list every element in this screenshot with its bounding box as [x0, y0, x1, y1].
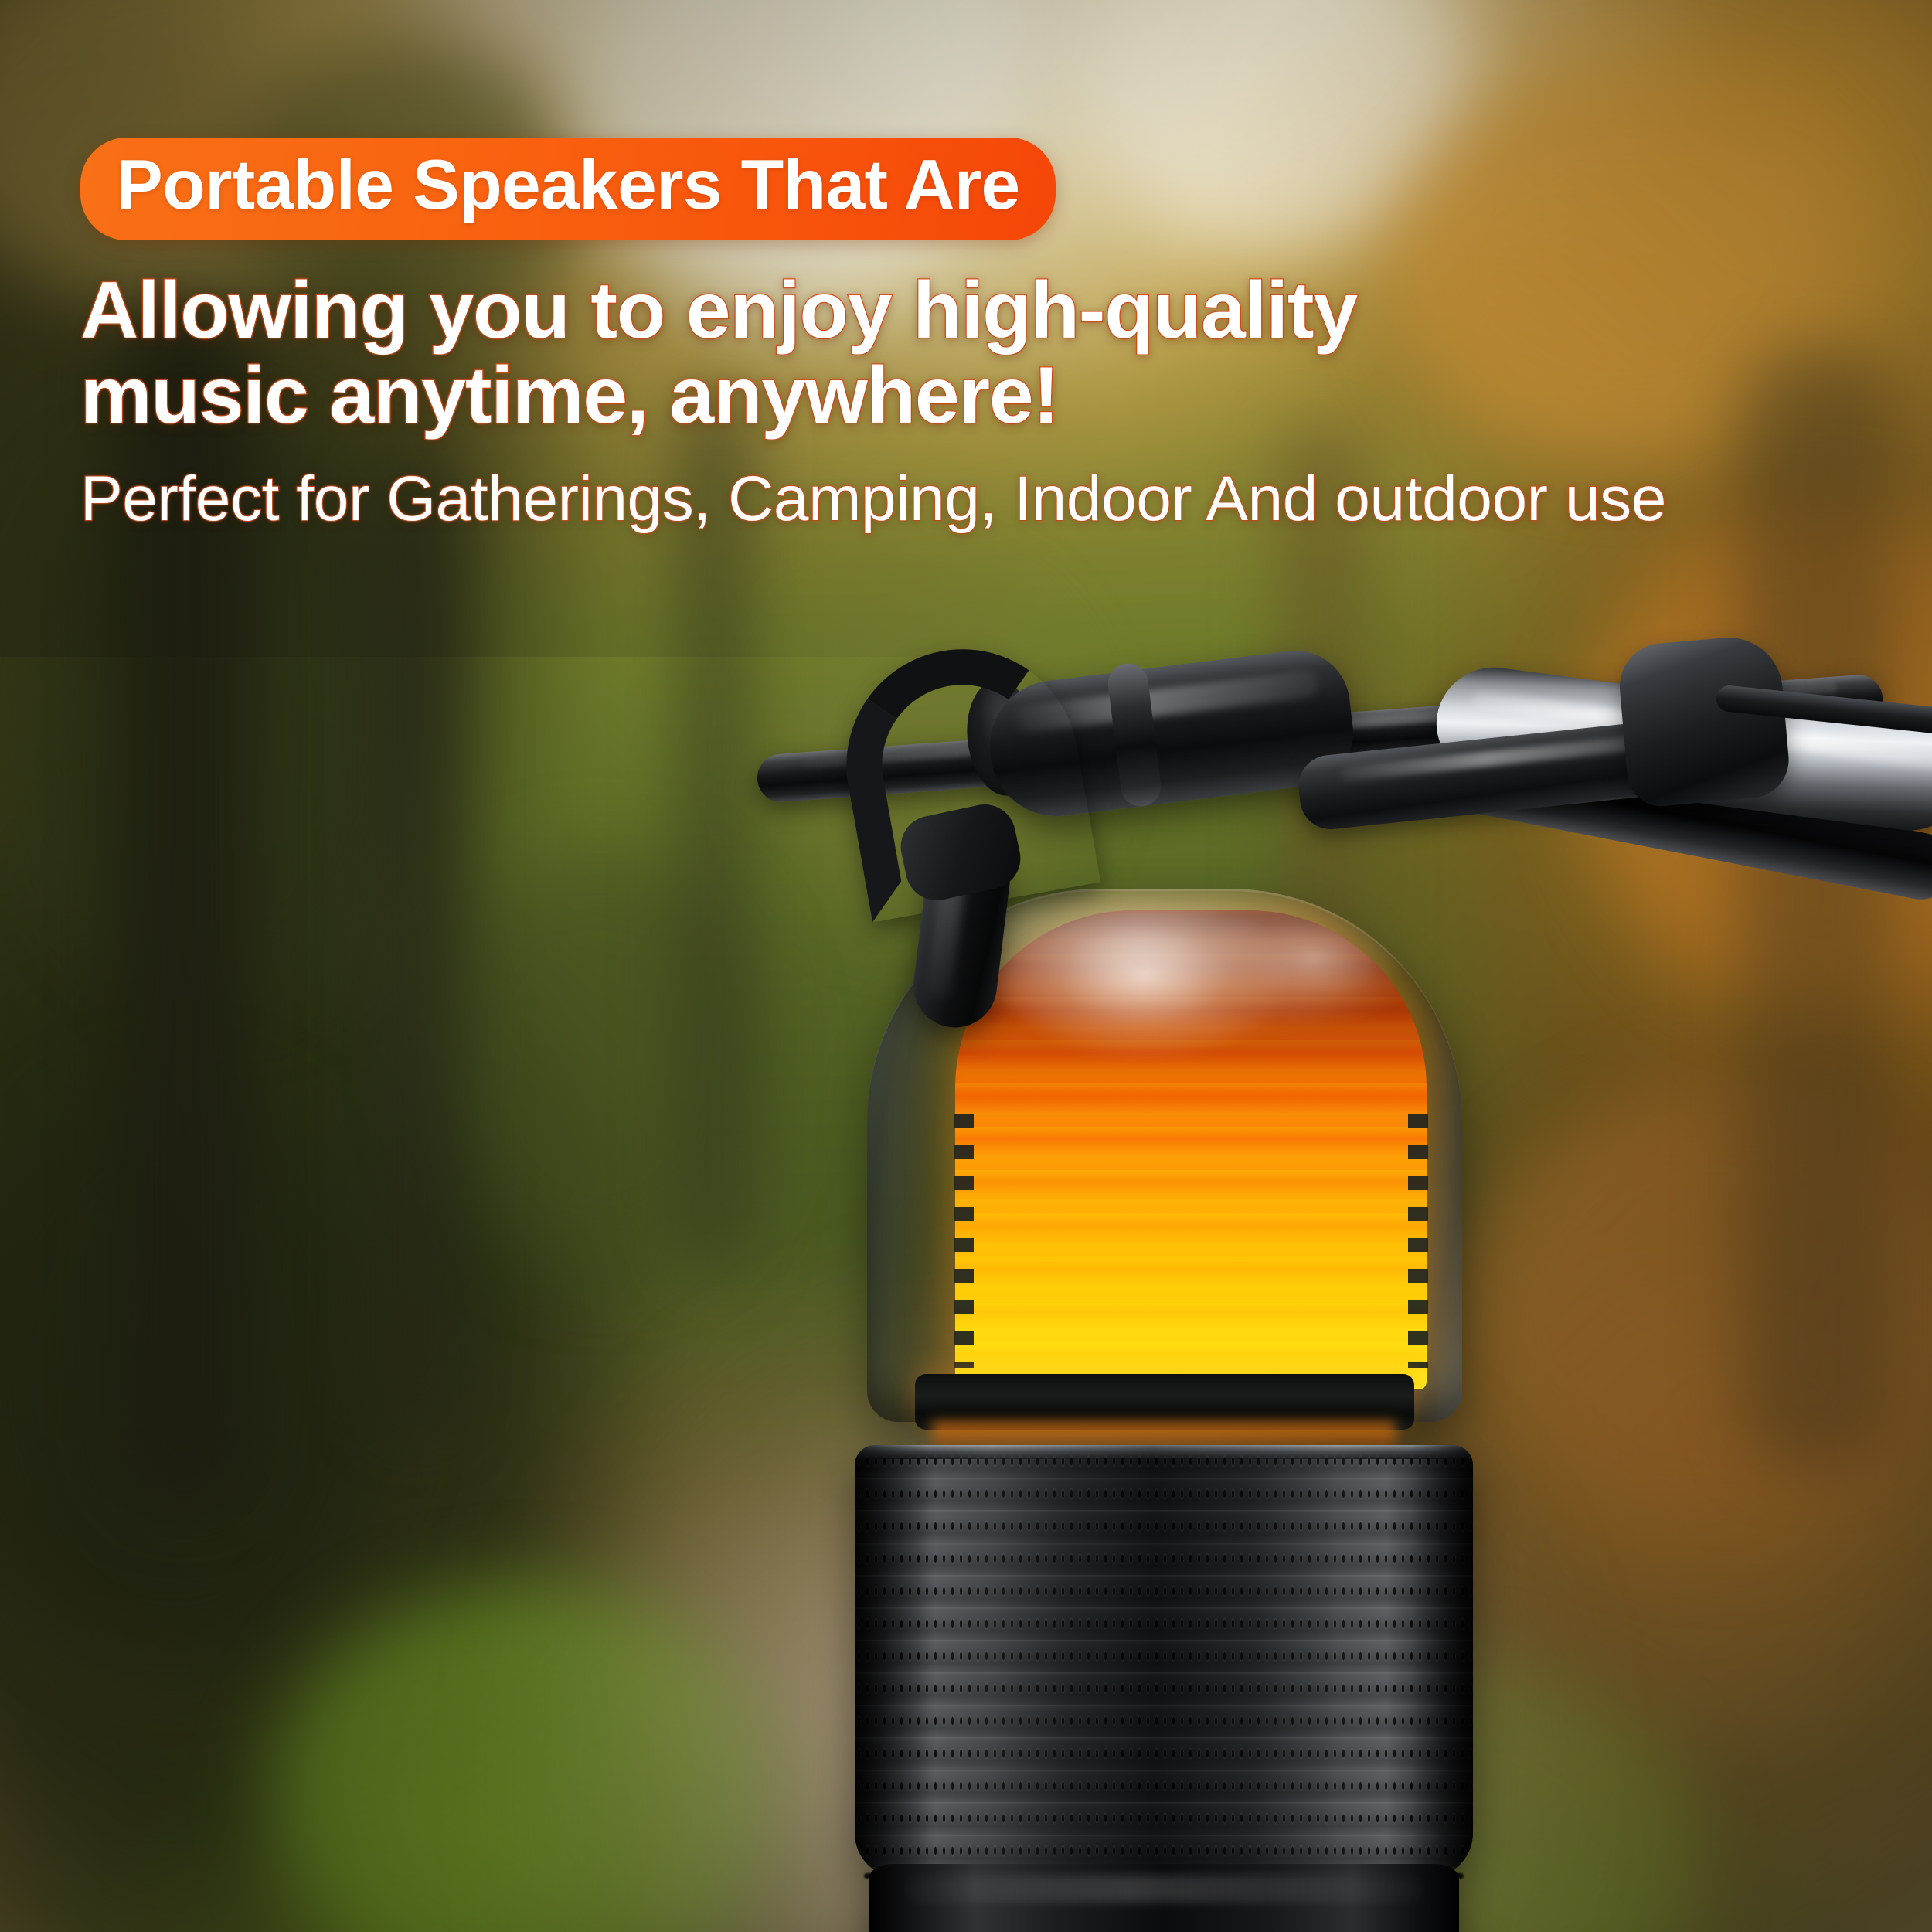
- brake-lever-mount: [1616, 633, 1792, 809]
- product-banner: Portable Speakers That Are Allowing you …: [0, 0, 1932, 1932]
- headline: Allowing you to enjoy high-quality music…: [80, 268, 1858, 438]
- subheadline: Perfect for Gatherings, Camping, Indoor …: [80, 464, 1858, 534]
- portable-speaker: [841, 889, 1482, 1917]
- headline-badge-label: Portable Speakers That Are: [116, 150, 1020, 220]
- light-core-notches-right: [1408, 1097, 1428, 1368]
- headline-badge: Portable Speakers That Are: [80, 138, 1056, 240]
- marketing-copy: Portable Speakers That Are Allowing you …: [80, 138, 1858, 535]
- dome-reflection: [955, 910, 1427, 1083]
- rgb-light-core: [955, 910, 1427, 1389]
- light-core-notches-left: [954, 1097, 974, 1368]
- speaker-base-cap: [869, 1864, 1459, 1932]
- headline-line-1: Allowing you to enjoy high-quality: [80, 268, 1858, 353]
- speaker-grille: [855, 1445, 1473, 1878]
- headline-line-2: music anytime, anywhere!: [80, 353, 1858, 438]
- grille-shading: [855, 1445, 1473, 1878]
